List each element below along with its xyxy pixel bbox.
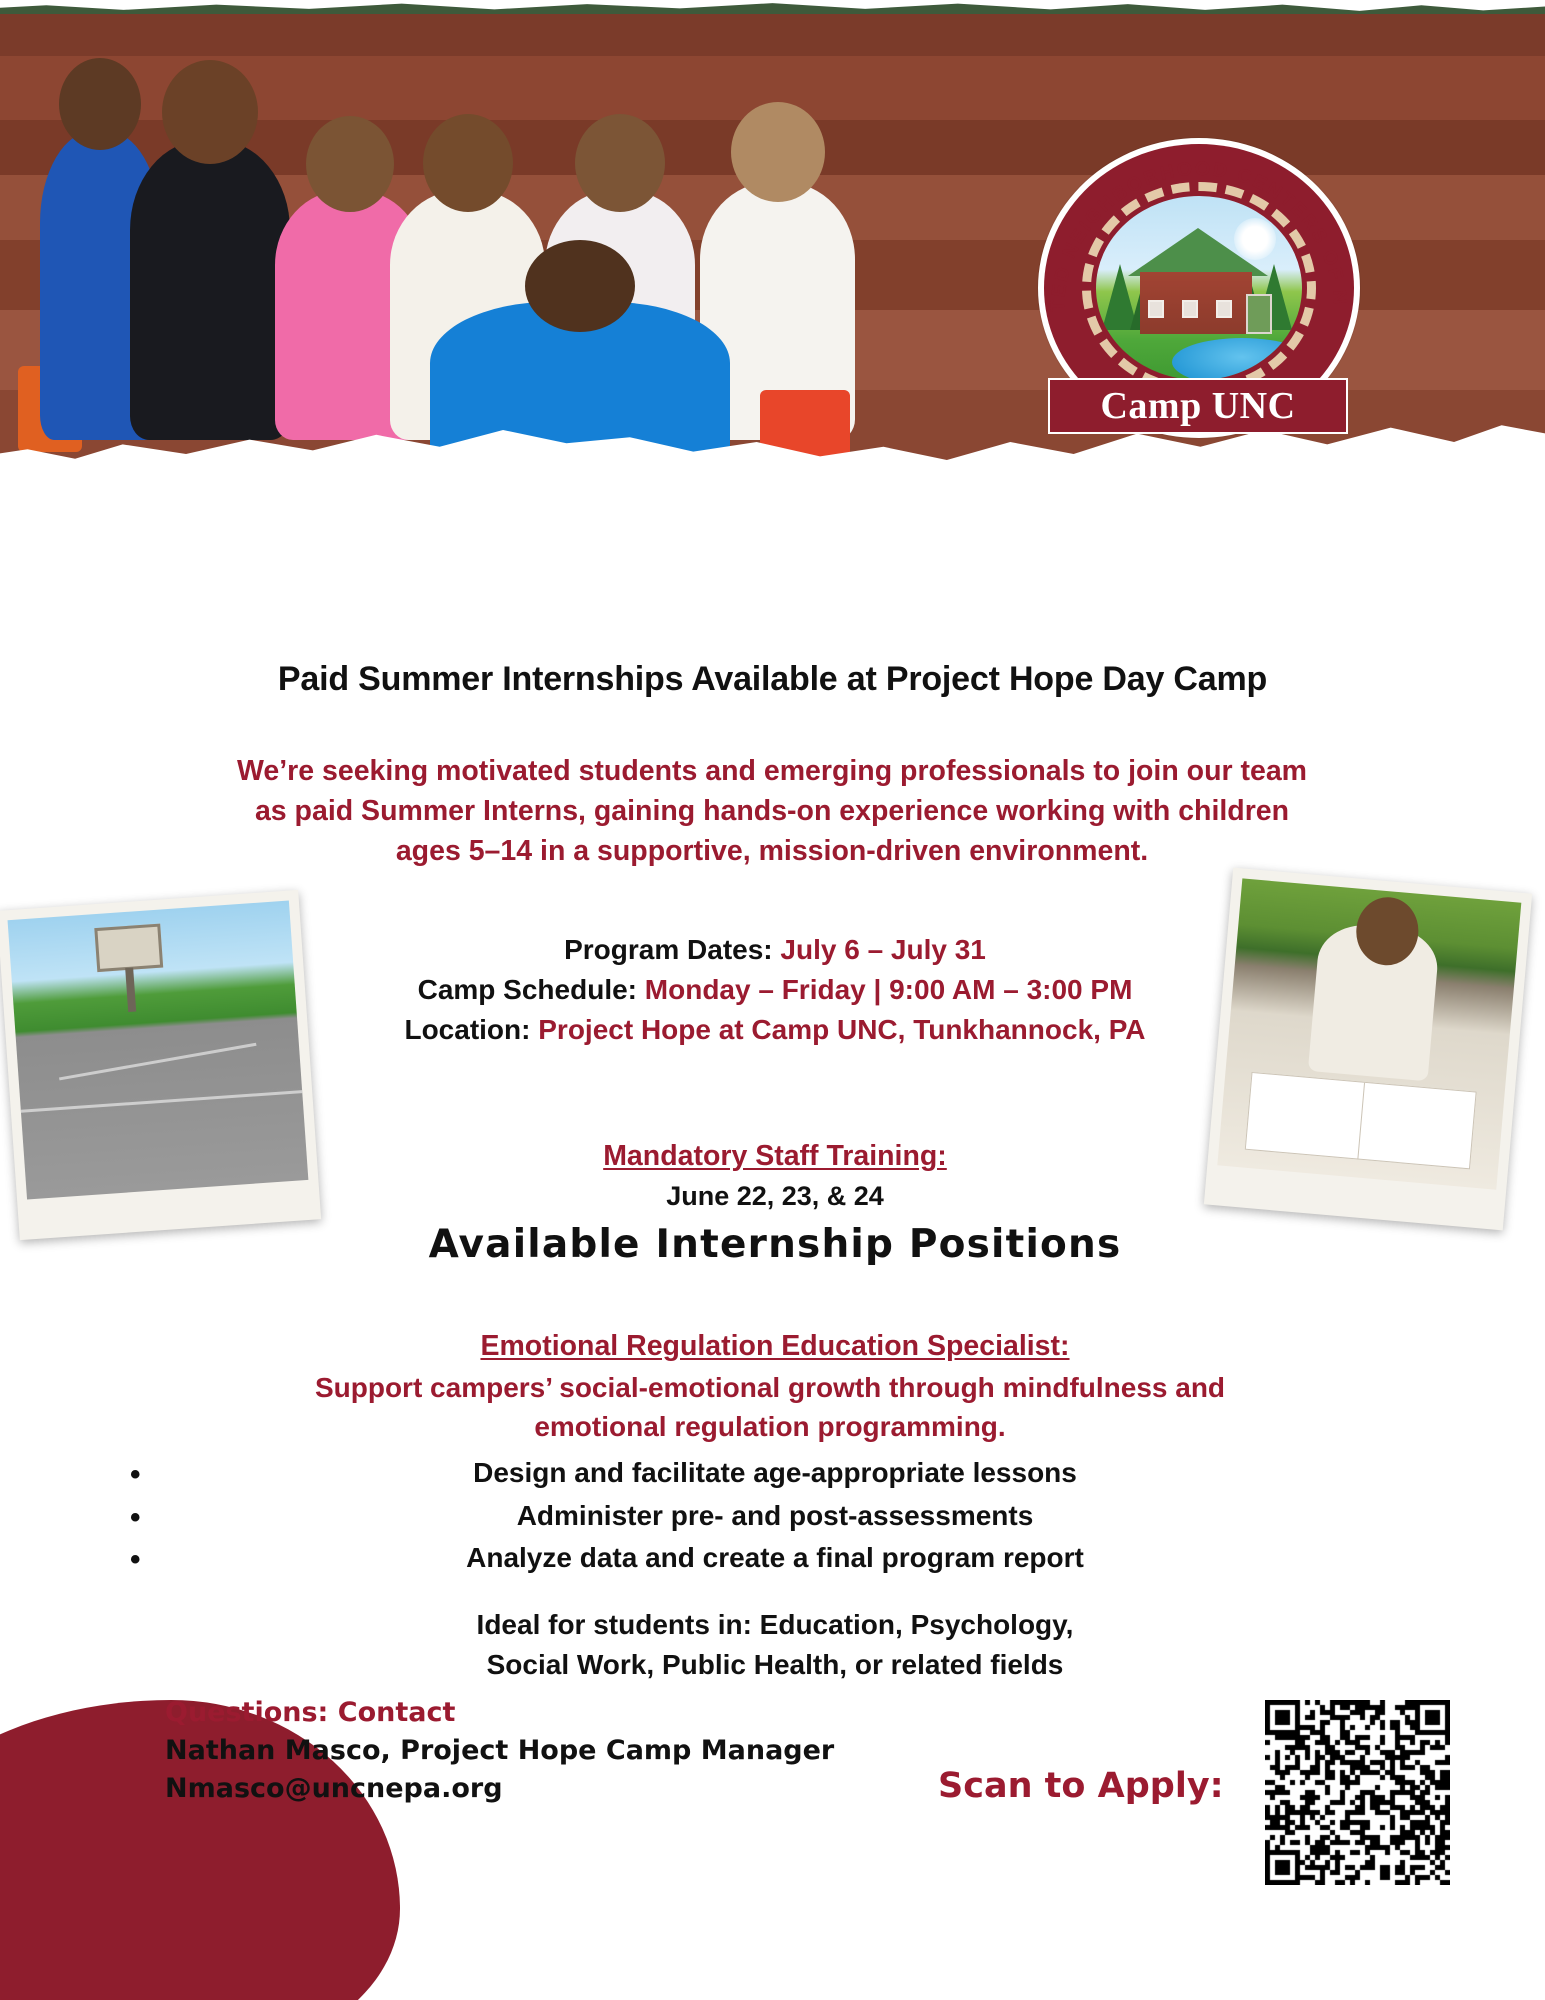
role-desc-line-2: emotional regulation programming. (180, 1407, 1360, 1446)
location-value: Project Hope at Camp UNC, Tunkhannock, P… (538, 1014, 1145, 1045)
page-title: Paid Summer Internships Available at Pro… (0, 660, 1545, 699)
intro-line-3: ages 5–14 in a supportive, mission-drive… (142, 832, 1402, 872)
logo-cabin-scene (1096, 196, 1302, 380)
cabin-window-icon (1182, 300, 1198, 318)
ideal-majors: Ideal for students in: Education, Psycho… (250, 1605, 1300, 1685)
camp-schedule-row: Camp Schedule: Monday – Friday | 9:00 AM… (180, 970, 1370, 1010)
program-dates-row: Program Dates: July 6 – July 31 (180, 930, 1370, 970)
positions-heading: Available Internship Positions (300, 1222, 1250, 1267)
intro-line-1: We’re seeking motivated students and eme… (142, 752, 1402, 792)
cabin-roof-icon (1128, 228, 1268, 276)
basketball-hoop-icon (94, 924, 163, 972)
staff-training-dates: June 22, 23, & 24 (300, 1181, 1250, 1212)
cabin-window-icon (1148, 300, 1164, 318)
role-duties-list: Design and facilitate age-appropriate le… (130, 1452, 1380, 1580)
list-item: Design and facilitate age-appropriate le… (130, 1452, 1380, 1495)
staff-training-section: Mandatory Staff Training: June 22, 23, &… (300, 1140, 1250, 1212)
cabin-window-icon (1216, 300, 1232, 318)
scan-to-apply-label: Scan to Apply: (938, 1766, 1224, 1806)
pond-icon (1172, 338, 1302, 380)
contact-email[interactable]: Nmasco@uncnepa.org (165, 1770, 834, 1808)
camp-unc-banner-label: Camp UNC (1100, 384, 1295, 428)
program-details: Program Dates: July 6 – July 31 Camp Sch… (180, 930, 1370, 1049)
role-title: Emotional Regulation Education Specialis… (250, 1330, 1300, 1363)
intro-line-2: as paid Summer Interns, gaining hands-on… (142, 792, 1402, 832)
staff-training-title: Mandatory Staff Training: (300, 1140, 1250, 1173)
contact-block: Questions: Contact Nathan Masco, Project… (165, 1697, 834, 1809)
camp-schedule-value: Monday – Friday | 9:00 AM – 3:00 PM (645, 974, 1133, 1005)
court-line (59, 1043, 256, 1081)
list-item: Administer pre- and post-assessments (130, 1495, 1380, 1538)
basketball-court-image (8, 901, 309, 1200)
camper-figure (130, 140, 290, 440)
flyer-page: UNITED NEIGHBORHOOD CENTERS OF NEPA Camp… (0, 0, 1545, 2000)
program-dates-label: Program Dates: (564, 934, 773, 965)
cabin-door-icon (1246, 294, 1272, 334)
ideal-line-1: Ideal for students in: Education, Psycho… (250, 1605, 1300, 1645)
polaroid-photo-coloring (1204, 868, 1532, 1231)
intro-paragraph: We’re seeking motivated students and eme… (142, 752, 1402, 872)
qr-code[interactable] (1265, 1700, 1450, 1885)
hoop-pole (125, 968, 136, 1012)
camp-unc-logo: UNITED NEIGHBORHOOD CENTERS OF NEPA Camp… (1038, 138, 1360, 438)
ideal-line-2: Social Work, Public Health, or related f… (250, 1645, 1300, 1685)
list-item: Analyze data and create a final program … (130, 1537, 1380, 1580)
contact-label: Questions: Contact (165, 1697, 834, 1728)
location-label: Location: (404, 1014, 530, 1045)
program-dates-value: July 6 – July 31 (780, 934, 985, 965)
camp-schedule-label: Camp Schedule: (418, 974, 637, 1005)
camper-coloring-image (1217, 878, 1521, 1189)
role-description: Support campers’ social-emotional growth… (180, 1368, 1360, 1446)
coloring-book-icon (1245, 1072, 1477, 1169)
location-row: Location: Project Hope at Camp UNC, Tunk… (180, 1010, 1370, 1050)
court-line (21, 1090, 303, 1113)
camp-unc-banner: Camp UNC (1048, 378, 1348, 434)
role-desc-line-1: Support campers’ social-emotional growth… (180, 1368, 1360, 1407)
polaroid-photo-basketball-court (0, 890, 321, 1240)
contact-name-title: Nathan Masco, Project Hope Camp Manager (165, 1732, 834, 1770)
